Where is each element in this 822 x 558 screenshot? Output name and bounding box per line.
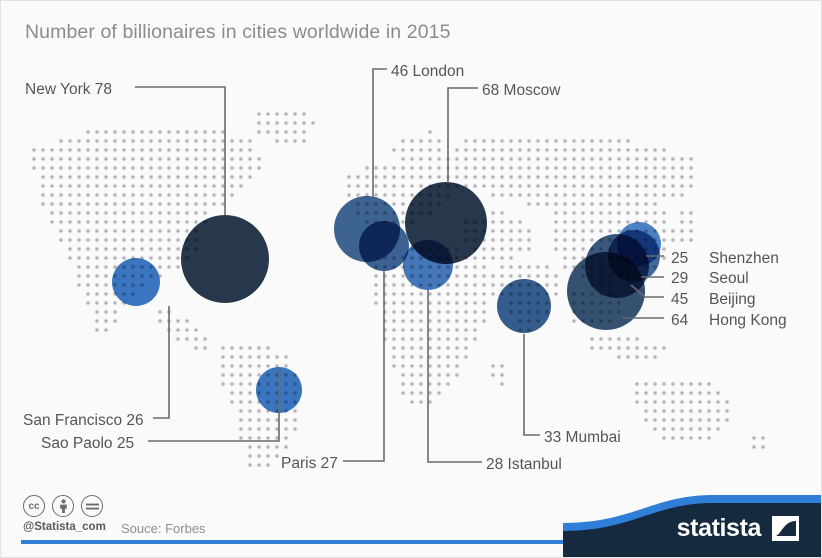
footer-rule xyxy=(21,540,581,544)
bubble-paris[interactable] xyxy=(359,221,409,271)
label-istanbul: 28 Istanbul xyxy=(486,456,562,474)
bubble-istanbul[interactable] xyxy=(403,240,453,290)
asia-value: 45 xyxy=(671,291,697,309)
label-moscow: 68 Moscow xyxy=(482,82,560,100)
asia-city: Beijing xyxy=(709,291,756,308)
label-paris: Paris 27 xyxy=(281,455,338,473)
label-san-francisco: San Francisco 26 xyxy=(23,412,144,430)
cc-by-person-icon xyxy=(52,495,74,517)
asia-row-shenzhen: 25Shenzhen xyxy=(671,250,779,268)
asia-value: 25 xyxy=(671,250,697,268)
infographic-canvas: Number of billionaires in cities worldwi… xyxy=(0,0,822,558)
asia-city: Hong Kong xyxy=(709,312,787,329)
label-new-york: New York 78 xyxy=(25,81,112,99)
asia-row-beijing: 45Beijing xyxy=(671,291,756,309)
creative-commons-icons: cc xyxy=(23,495,103,517)
bubble-sao-paolo[interactable] xyxy=(256,367,302,413)
cc-icon: cc xyxy=(23,495,45,517)
statista-logo[interactable]: statista xyxy=(563,493,822,557)
bubble-shenzhen[interactable] xyxy=(617,222,661,266)
statista-wordmark: statista xyxy=(677,514,761,543)
label-london: 46 London xyxy=(391,63,464,81)
asia-value: 29 xyxy=(671,270,697,288)
bubble-san-francisco[interactable] xyxy=(112,258,160,306)
cc-nd-equals-icon xyxy=(81,495,103,517)
asia-value: 64 xyxy=(671,312,697,330)
statista-handle: @Statista_com xyxy=(23,521,106,533)
asia-city: Shenzhen xyxy=(709,250,779,267)
asia-city: Seoul xyxy=(709,270,749,287)
footer-bar: cc @Statista_com Souce: Forbes xyxy=(1,487,822,557)
label-mumbai: 33 Mumbai xyxy=(544,429,621,447)
source-note: Souce: Forbes xyxy=(121,521,206,536)
bubble-mumbai[interactable] xyxy=(497,279,551,333)
statista-symbol xyxy=(772,516,799,541)
bubble-new-york[interactable] xyxy=(181,215,269,303)
label-sao-paolo: Sao Paolo 25 xyxy=(41,435,134,453)
asia-row-hong-kong: 64Hong Kong xyxy=(671,312,787,330)
asia-row-seoul: 29Seoul xyxy=(671,270,749,288)
